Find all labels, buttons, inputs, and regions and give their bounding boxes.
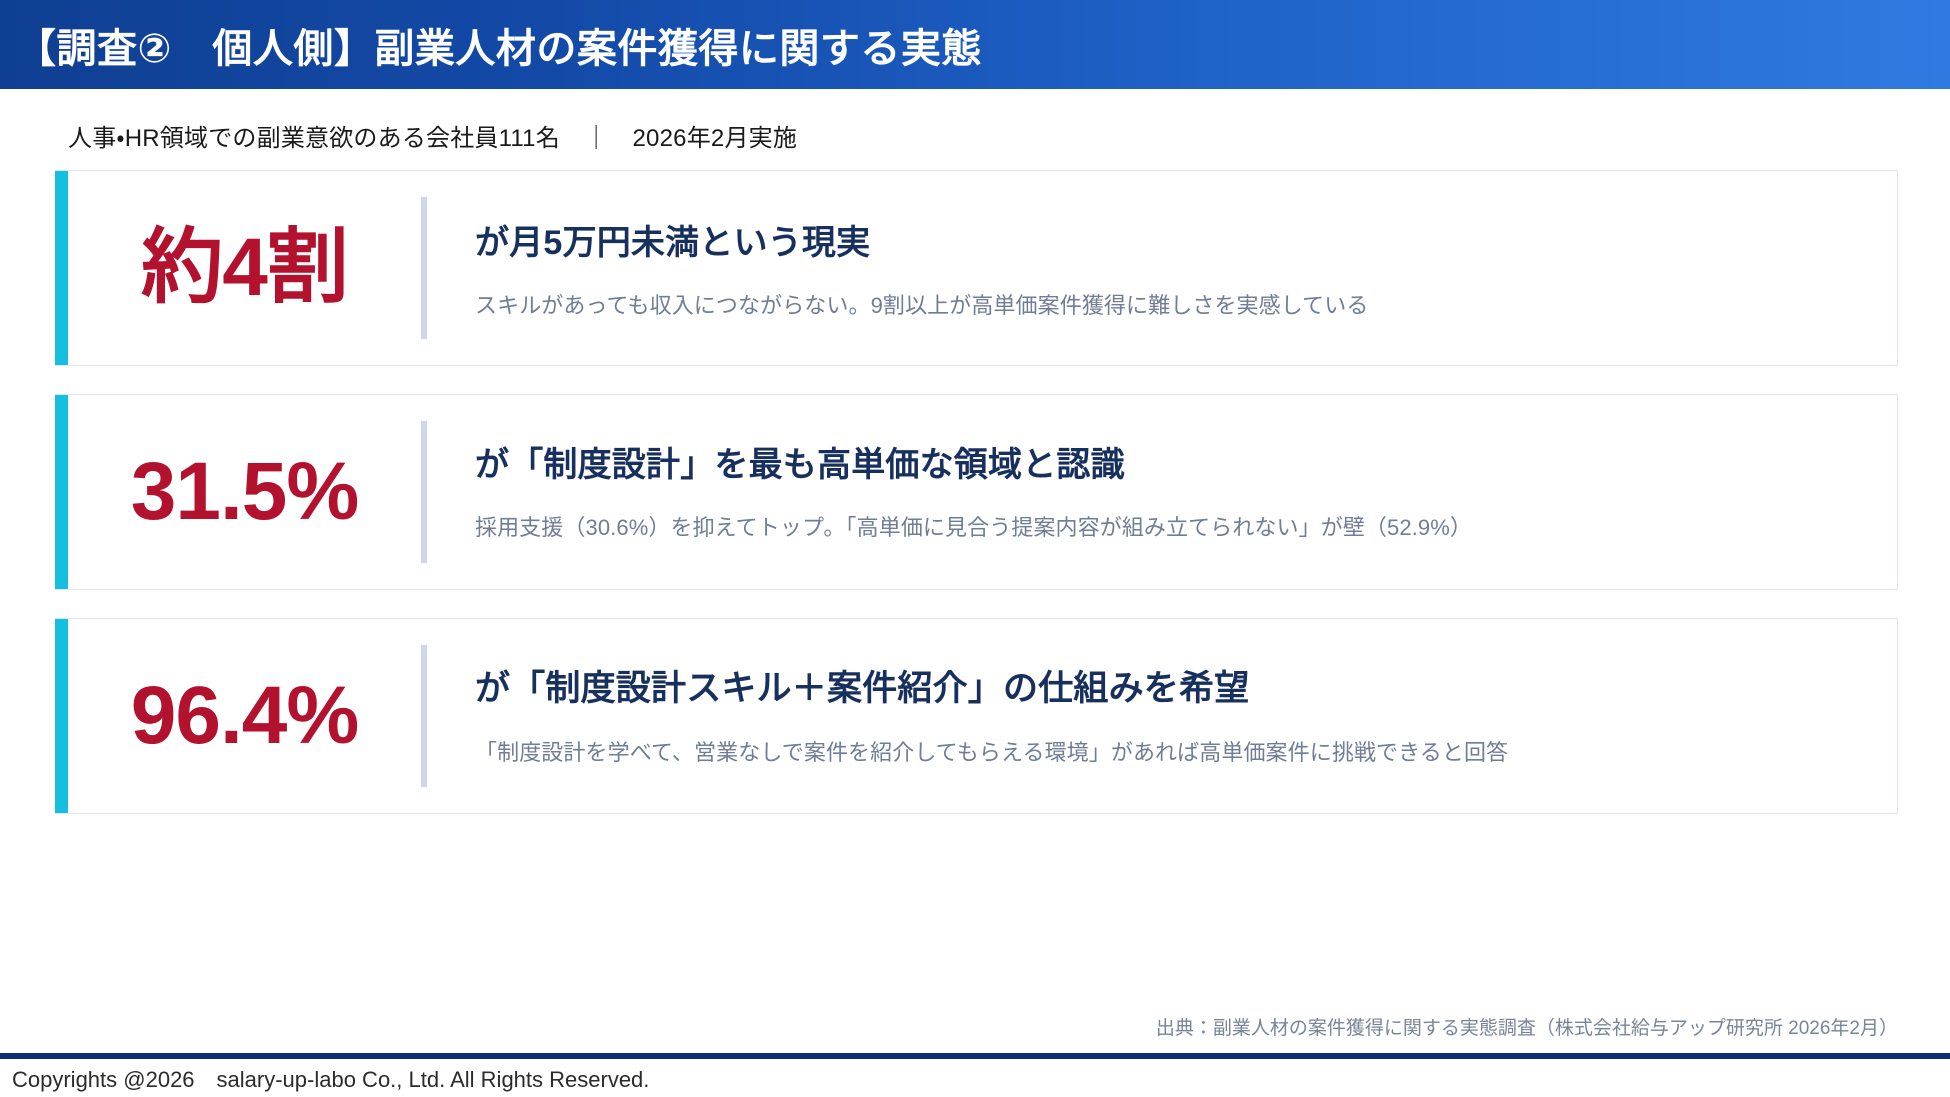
card-stat-cell: 31.5% xyxy=(68,395,421,589)
card-body: が月5万円未満という現実 スキルがあっても収入につながらない。9割以上が高単価案… xyxy=(427,171,1897,365)
stat-value: 31.5% xyxy=(131,451,359,533)
card-body: が「制度設計スキル＋案件紹介」の仕組みを希望 「制度設計を学べて、営業なしで案件… xyxy=(427,619,1897,813)
card-description: 「制度設計を学べて、営業なしで案件を紹介してもらえる環境」があれば高単価案件に挑… xyxy=(475,737,1805,769)
card-stat-cell: 96.4% xyxy=(68,619,421,813)
copyright-text: Copyrights @2026 salary-up-labo Co., Ltd… xyxy=(12,1062,649,1094)
card-heading: が「制度設計」を最も高単価な領域と認識 xyxy=(475,444,1871,487)
card-accent-bar xyxy=(55,171,68,365)
stat-card: 約4割 が月5万円未満という現実 スキルがあっても収入につながらない。9割以上が… xyxy=(55,170,1898,366)
card-stat-cell: 約4割 xyxy=(68,171,421,365)
card-body: が「制度設計」を最も高単価な領域と認識 採用支援（30.6%）を抑えてトップ。「… xyxy=(427,395,1897,589)
footer-divider xyxy=(0,1053,1950,1059)
stat-card: 96.4% が「制度設計スキル＋案件紹介」の仕組みを希望 「制度設計を学べて、営… xyxy=(55,618,1898,814)
stat-card-list: 約4割 が月5万円未満という現実 スキルがあっても収入につながらない。9割以上が… xyxy=(55,170,1898,842)
card-heading: が「制度設計スキル＋案件紹介」の仕組みを希望 xyxy=(475,667,1871,711)
card-description: 採用支援（30.6%）を抑えてトップ。「高単価に見合う提案内容が組み立てられない… xyxy=(475,512,1805,544)
stat-value: 約4割 xyxy=(141,227,348,309)
card-accent-bar xyxy=(55,619,68,813)
card-description: スキルがあっても収入につながらない。9割以上が高単価案件獲得に難しさを実感してい… xyxy=(475,290,1805,322)
card-accent-bar xyxy=(55,395,68,589)
source-note: 出典：副業人材の案件獲得に関する実態調査（株式会社給与アップ研究所 2026年2… xyxy=(1156,1013,1898,1040)
survey-subtitle: 人事・HR領域での副業意欲のある会社員111名 ｜ 2026年2月実施 xyxy=(68,118,797,153)
page-title: 【調査② 個人側】副業人材の案件獲得に関する実態 xyxy=(0,16,982,74)
stat-card: 31.5% が「制度設計」を最も高単価な領域と認識 採用支援（30.6%）を抑え… xyxy=(55,394,1898,590)
card-heading: が月5万円未満という現実 xyxy=(475,222,1871,265)
stat-value: 96.4% xyxy=(131,675,359,757)
slide-root: 【調査② 個人側】副業人材の案件獲得に関する実態 人事・HR領域での副業意欲のあ… xyxy=(0,0,1950,1097)
title-bar: 【調査② 個人側】副業人材の案件獲得に関する実態 xyxy=(0,0,1950,89)
